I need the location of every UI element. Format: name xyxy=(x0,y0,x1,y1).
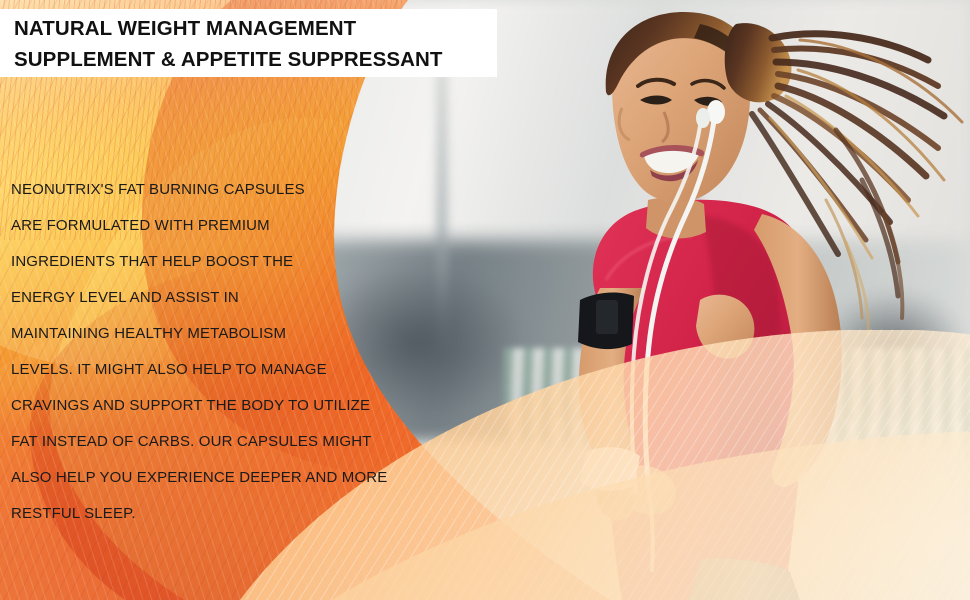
body-line-2: ARE FORMULATED WITH PREMIUM xyxy=(11,208,411,244)
body-copy: NEONUTRIX'S FAT BURNING CAPSULES ARE FOR… xyxy=(11,172,411,532)
title-line-1: NATURAL WEIGHT MANAGEMENT xyxy=(14,13,497,44)
body-line-3: INGREDIENTS THAT HELP BOOST THE xyxy=(11,244,411,280)
body-line-1: NEONUTRIX'S FAT BURNING CAPSULES xyxy=(11,172,411,208)
body-line-6: LEVELS. IT MIGHT ALSO HELP TO MANAGE xyxy=(11,352,411,388)
product-banner: NATURAL WEIGHT MANAGEMENT SUPPLEMENT & A… xyxy=(0,0,970,600)
body-line-8: FAT INSTEAD OF CARBS. OUR CAPSULES MIGHT xyxy=(11,424,411,460)
body-line-9: ALSO HELP YOU EXPERIENCE DEEPER AND MORE xyxy=(11,460,411,496)
title-banner: NATURAL WEIGHT MANAGEMENT SUPPLEMENT & A… xyxy=(0,9,497,77)
body-line-5: MAINTAINING HEALTHY METABOLISM xyxy=(11,316,411,352)
body-line-4: ENERGY LEVEL AND ASSIST IN xyxy=(11,280,411,316)
armband-phone xyxy=(596,300,618,334)
body-line-7: CRAVINGS AND SUPPORT THE BODY TO UTILIZE xyxy=(11,388,411,424)
title-line-2: SUPPLEMENT & APPETITE SUPPRESSANT xyxy=(14,44,497,75)
body-line-10: RESTFUL SLEEP. xyxy=(11,496,411,532)
earbud-left xyxy=(696,108,710,128)
